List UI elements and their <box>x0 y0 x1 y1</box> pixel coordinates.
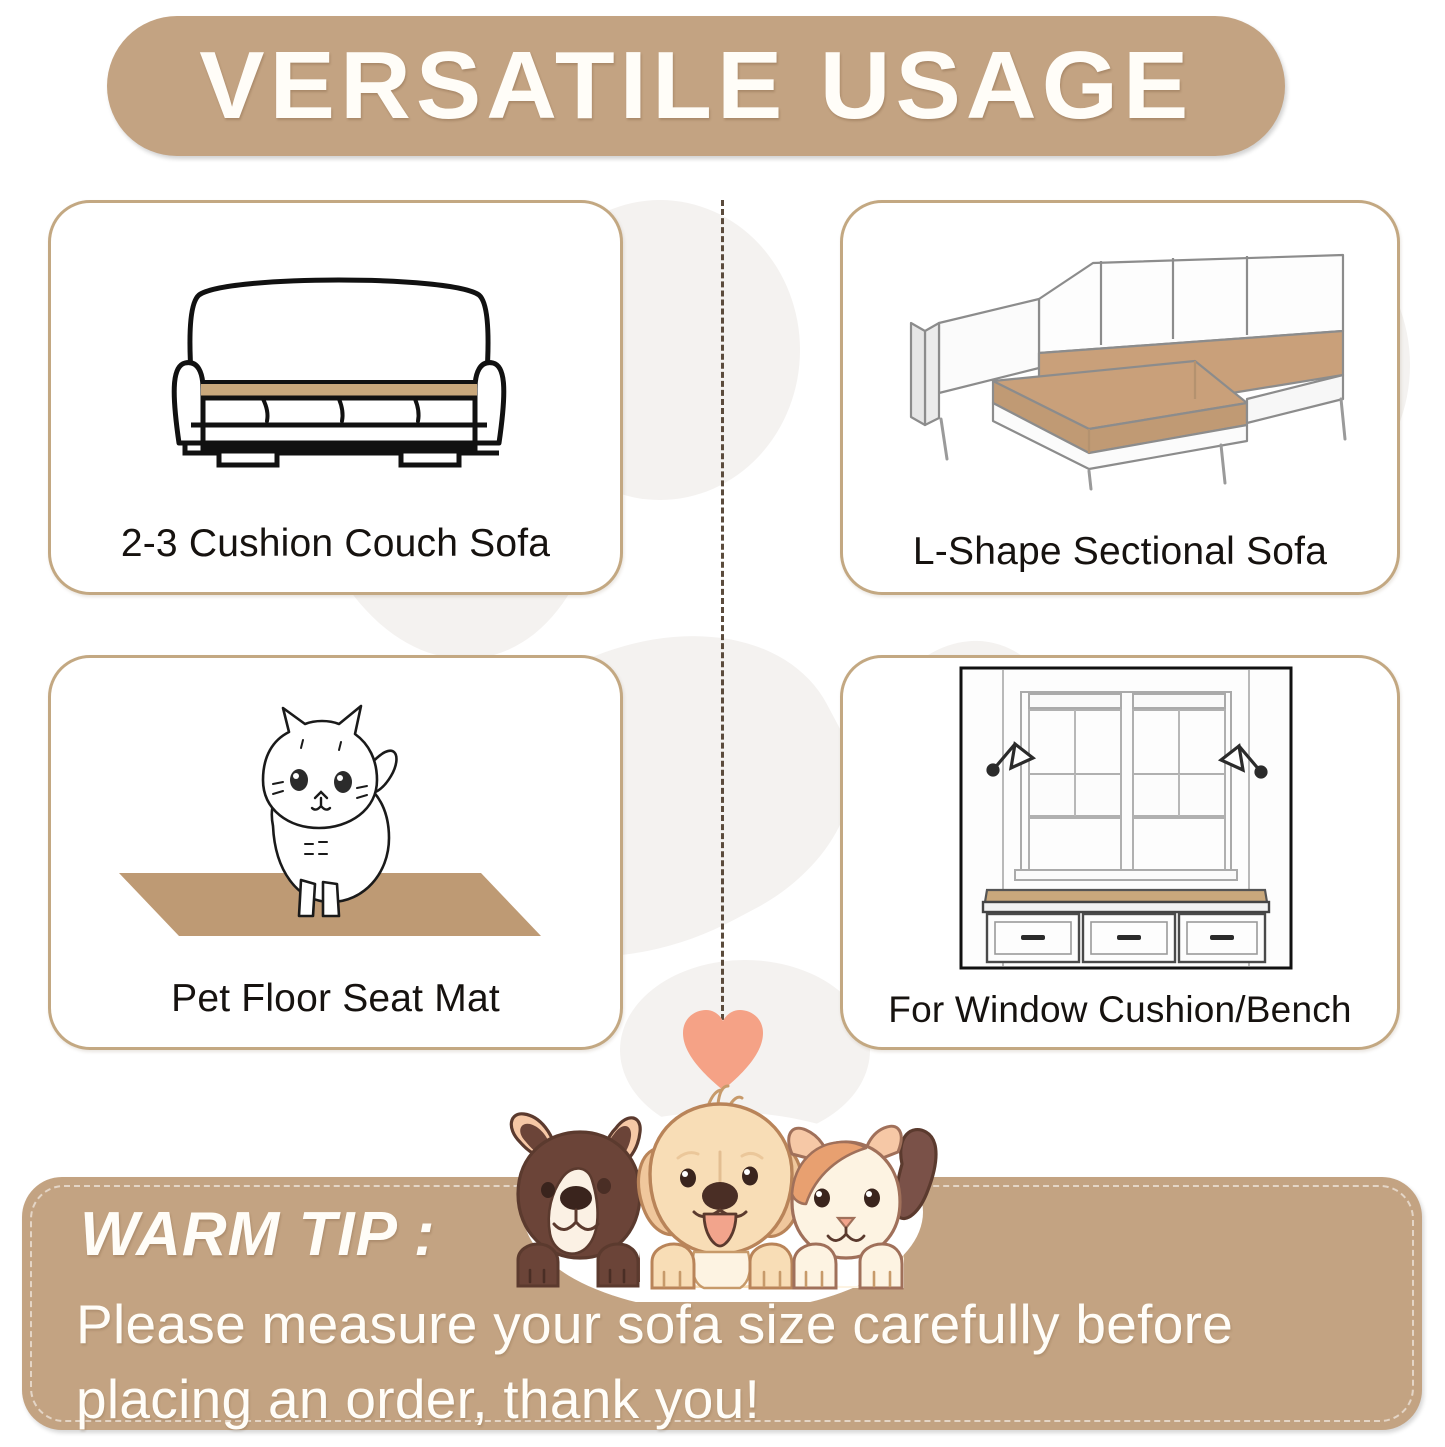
usage-card-pet-floor-mat[interactable]: Pet Floor Seat Mat <box>48 655 623 1050</box>
window-bench-icon <box>843 658 1397 970</box>
usage-card-label: For Window Cushion/Bench <box>843 989 1397 1031</box>
warm-tip-heading: WARM TIP : <box>80 1199 436 1270</box>
heart-icon <box>679 1008 767 1092</box>
usage-card-window-bench[interactable]: For Window Cushion/Bench <box>840 655 1400 1050</box>
usage-card-label: L-Shape Sectional Sofa <box>843 530 1397 574</box>
cat-on-mat-icon <box>51 658 620 948</box>
pets-illustration <box>492 1082 954 1302</box>
header-banner: VERSATILE USAGE <box>107 16 1285 156</box>
usage-card-sectional-sofa[interactable]: L-Shape Sectional Sofa <box>840 200 1400 595</box>
usage-card-label: Pet Floor Seat Mat <box>51 977 620 1021</box>
infographic-root: VERSATILE USAGE <box>0 0 1445 1447</box>
usage-card-label: 2-3 Cushion Couch Sofa <box>51 522 620 566</box>
page-title: VERSATILE USAGE <box>199 31 1193 141</box>
usage-card-couch-sofa[interactable]: 2-3 Cushion Couch Sofa <box>48 200 623 595</box>
warm-tip-line-2: placing an order, thank you! <box>76 1367 760 1431</box>
sectional-sofa-icon <box>843 203 1397 493</box>
vertical-dashed-divider <box>721 200 724 1020</box>
sofa-icon <box>51 203 620 493</box>
